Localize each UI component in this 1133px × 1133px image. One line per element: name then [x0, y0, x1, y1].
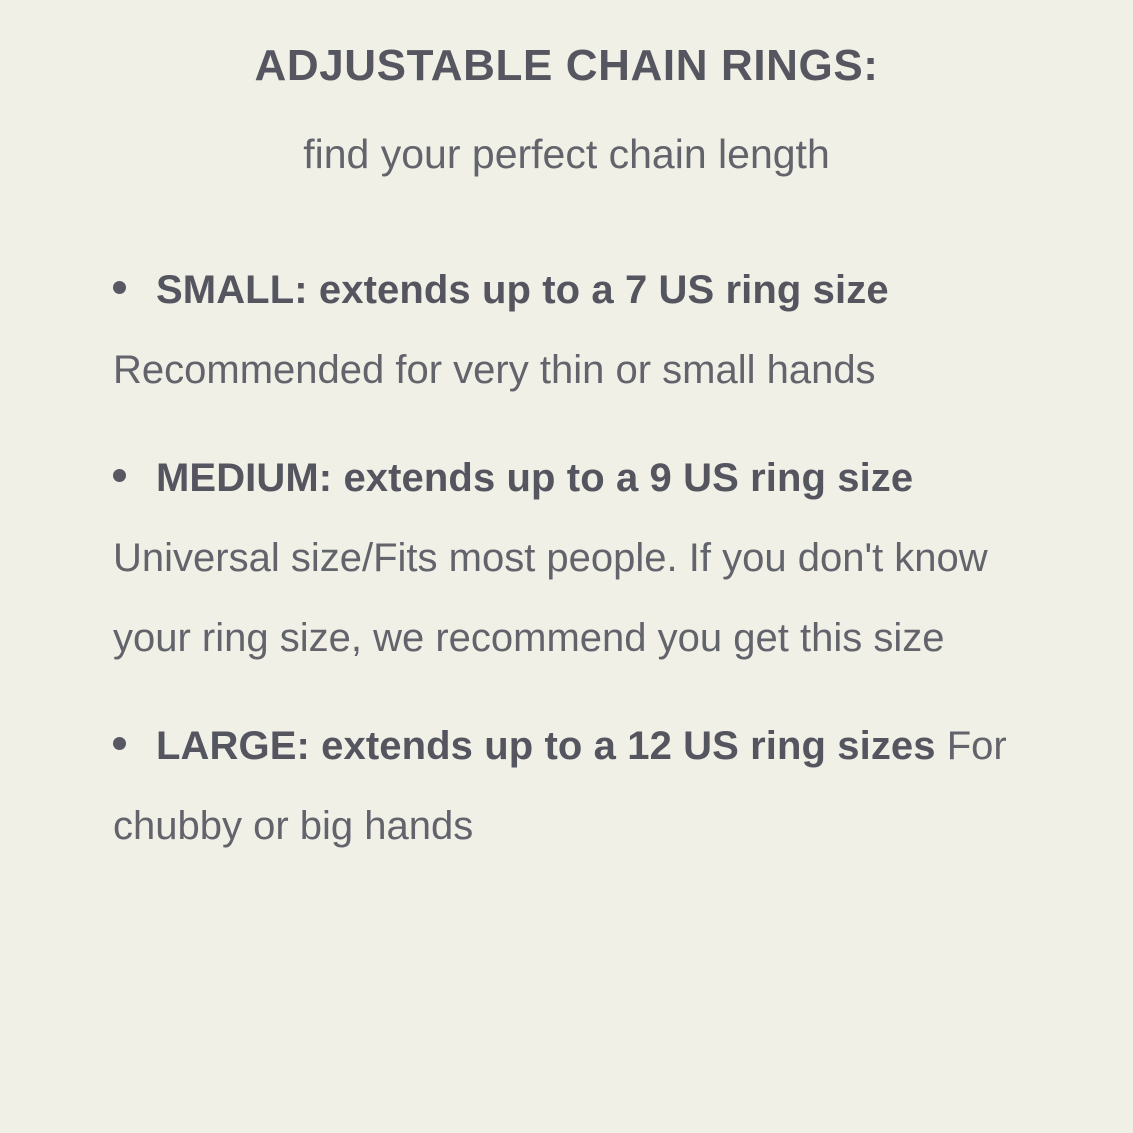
list-item: SMALL: extends up to a 7 US ring size Re… — [113, 250, 1058, 410]
size-guide-card: ADJUSTABLE CHAIN RINGS: find your perfec… — [0, 0, 1133, 1133]
size-options-list: SMALL: extends up to a 7 US ring size Re… — [113, 250, 1058, 866]
bullet-dot-icon — [113, 737, 126, 750]
size-label: MEDIUM: extends up to a 9 US ring size — [156, 456, 913, 500]
bullet-dot-icon — [113, 281, 126, 294]
size-description: Recommended for very thin or small hands — [113, 348, 876, 392]
header: ADJUSTABLE CHAIN RINGS: find your perfec… — [0, 0, 1133, 175]
size-label: LARGE: extends up to a 12 US ring sizes — [156, 724, 936, 768]
size-label: SMALL: extends up to a 7 US ring size — [156, 268, 889, 312]
size-description: Universal size/Fits most people. If you … — [113, 536, 988, 660]
page-subtitle: find your perfect chain length — [0, 88, 1133, 175]
bullet-dot-icon — [113, 469, 126, 482]
list-item: LARGE: extends up to a 12 US ring sizes … — [113, 706, 1058, 866]
page-title: ADJUSTABLE CHAIN RINGS: — [0, 44, 1133, 88]
list-item: MEDIUM: extends up to a 9 US ring size U… — [113, 438, 1058, 678]
